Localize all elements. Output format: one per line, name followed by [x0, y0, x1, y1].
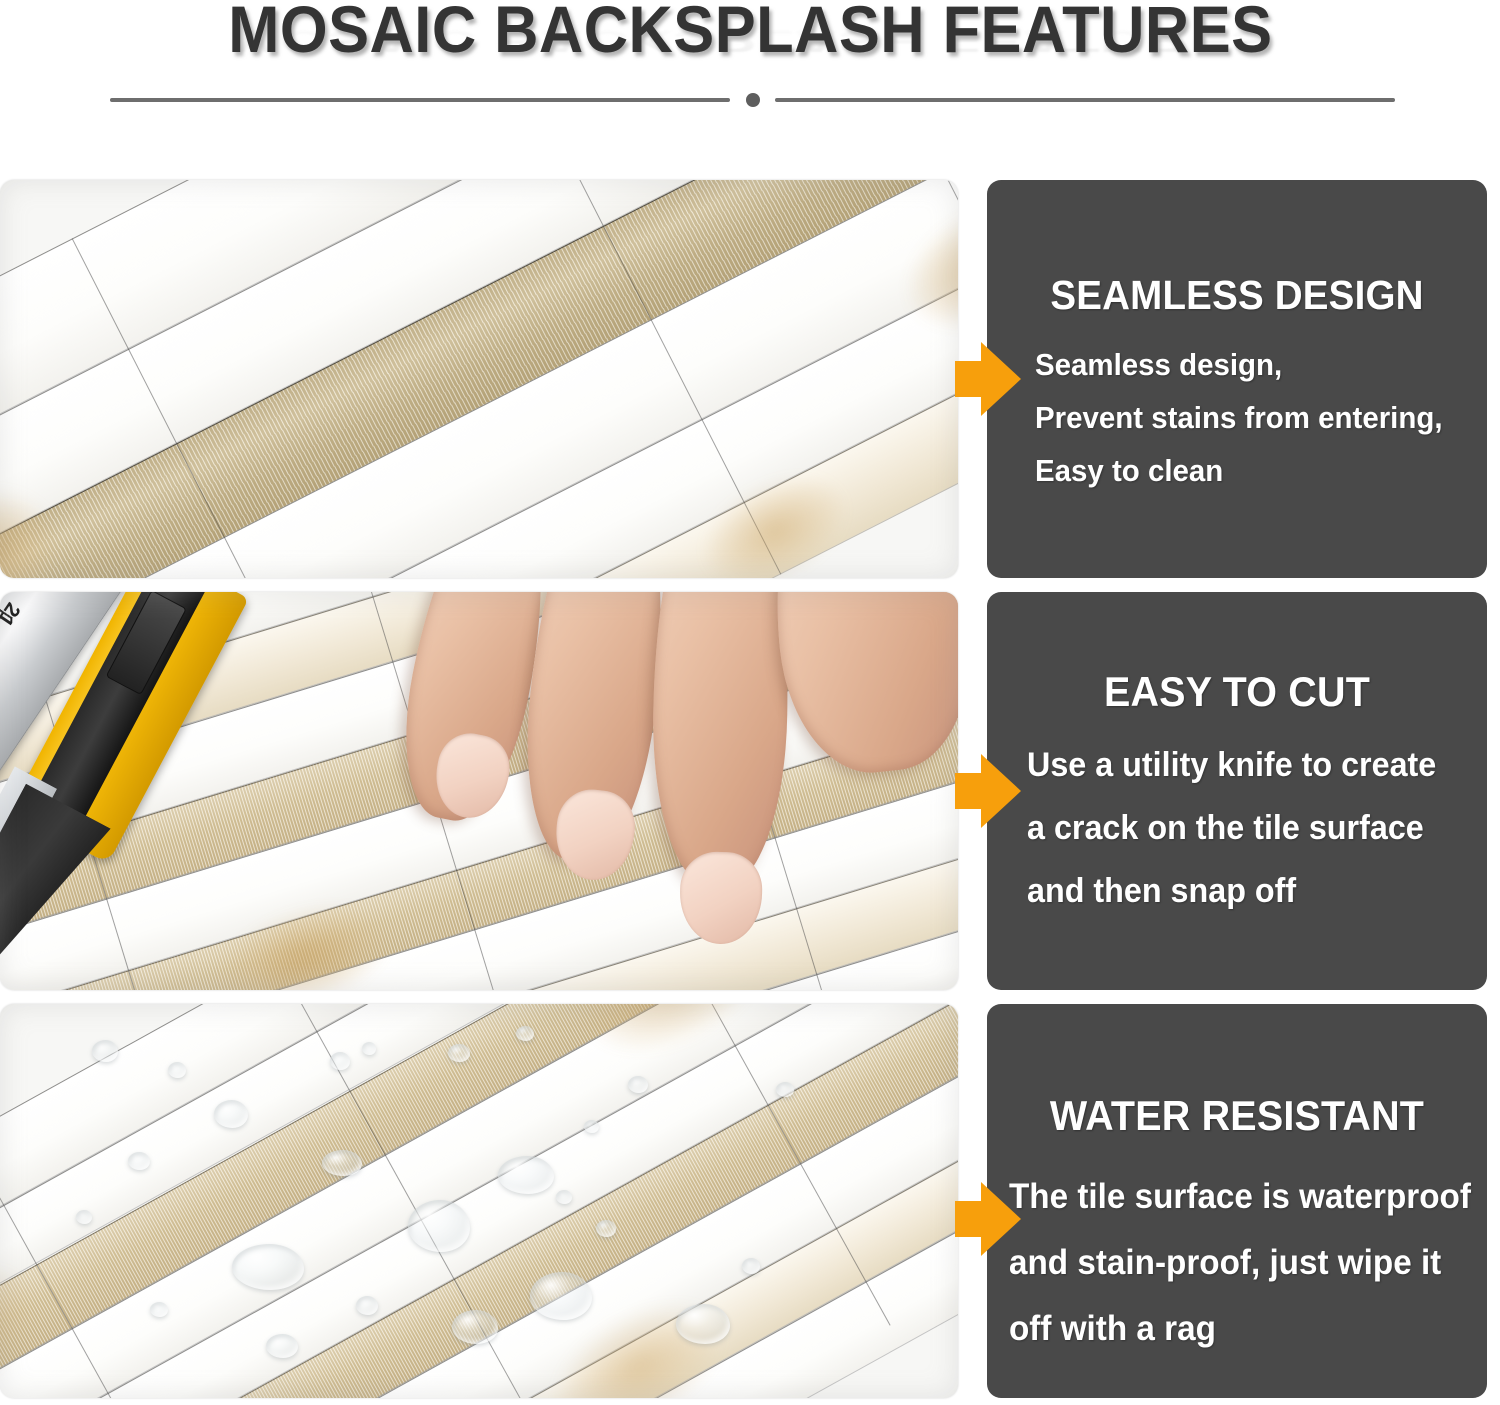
page-title: MOSAIC BACKSPLASH FEATURES — [228, 0, 1272, 65]
feature-body-line: Easy to clean — [1035, 444, 1464, 497]
feature-heading: SEAMLESS DESIGN — [1002, 272, 1472, 319]
infographic-page: MOSAIC BACKSPLASH FEATURES MOSAIC BACKSP… — [0, 0, 1500, 1405]
page-title-wrap: MOSAIC BACKSPLASH FEATURES — [0, 0, 1500, 65]
tile-pattern — [0, 180, 958, 578]
feature-heading: WATER RESISTANT — [1002, 1092, 1472, 1140]
divider-dot-icon — [746, 93, 760, 107]
feature-photo-easy-to-cut: 20 21 22 23 24 25 26 27 28 29 30 — [0, 592, 958, 990]
feature-body-line: Prevent stains from entering, — [1035, 391, 1464, 444]
divider-rule-left — [110, 98, 730, 102]
divider-rule-right — [775, 98, 1395, 102]
feature-body-line: The tile surface is waterproof — [1009, 1164, 1463, 1230]
feature-heading: EASY TO CUT — [1002, 668, 1472, 716]
feature-photo-water-resistant — [0, 1004, 958, 1398]
feature-panel-seamless-design: SEAMLESS DESIGN Seamless design, Prevent… — [987, 180, 1487, 578]
hand — [358, 592, 958, 982]
feature-body: Seamless design, Prevent stains from ent… — [1035, 338, 1487, 497]
feature-body-line: a crack on the tile surface — [1027, 797, 1464, 860]
feature-body-line: Use a utility knife to create — [1027, 734, 1464, 797]
feature-body-line: and stain-proof, just wipe it — [1009, 1230, 1463, 1296]
feature-row-water-resistant: WATER RESISTANT The tile surface is wate… — [0, 1004, 1500, 1398]
feature-body: The tile surface is waterproof and stain… — [1009, 1164, 1487, 1362]
feature-body: Use a utility knife to create a crack on… — [1027, 734, 1487, 923]
feature-body-line: off with a rag — [1009, 1296, 1463, 1362]
right-arrow-icon — [955, 342, 1021, 416]
header-divider — [110, 92, 1395, 108]
feature-row-seamless-design: SEAMLESS DESIGN Seamless design, Prevent… — [0, 180, 1500, 578]
feature-body-line: and then snap off — [1027, 860, 1464, 923]
right-arrow-icon — [955, 754, 1021, 828]
panel-surface: SEAMLESS DESIGN Seamless design, Prevent… — [987, 180, 1487, 578]
feature-body-line: Seamless design, — [1035, 338, 1464, 391]
feature-photo-seamless-design — [0, 180, 958, 578]
page-header: MOSAIC BACKSPLASH FEATURES MOSAIC BACKSP… — [0, 0, 1500, 150]
feature-row-easy-to-cut: 20 21 22 23 24 25 26 27 28 29 30 — [0, 592, 1500, 990]
right-arrow-icon — [955, 1182, 1021, 1256]
panel-surface: EASY TO CUT Use a utility knife to creat… — [987, 592, 1487, 990]
feature-panel-easy-to-cut: EASY TO CUT Use a utility knife to creat… — [987, 592, 1487, 990]
feature-panel-water-resistant: WATER RESISTANT The tile surface is wate… — [987, 1004, 1487, 1398]
